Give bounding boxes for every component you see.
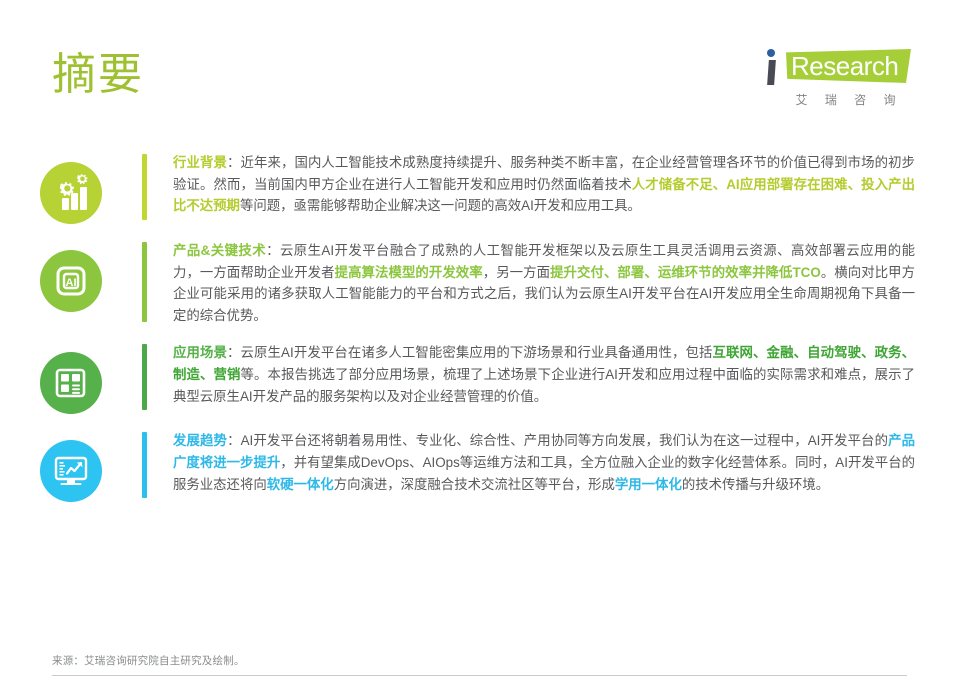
block-icon-wrap	[0, 428, 142, 502]
block-icon-wrap	[0, 340, 142, 414]
block-body-text-4: 的技术传播与升级环境。	[682, 477, 829, 492]
gears-bar-chart-icon	[40, 162, 102, 224]
block-lead-label: 发展趋势	[173, 433, 227, 448]
block-text-product-key-tech: 产品&关键技术：云原生AI开发平台融合了成熟的人工智能开发框架以及云原生工具灵活…	[147, 238, 959, 326]
page-footer: 来源：艾瑞咨询研究院自主研究及绘制。	[52, 653, 907, 676]
footer-source-text: 来源：艾瑞咨询研究院自主研究及绘制。	[52, 653, 907, 675]
summary-block-application-scenarios: 应用场景：云原生AI开发平台在诸多人工智能密集应用的下游场景和行业具备通用性，包…	[0, 340, 959, 414]
page-header: 摘要 Research 艾 瑞 咨 询	[0, 0, 959, 132]
ai-chip-icon: AI	[40, 250, 102, 312]
block-body-text-2: 等问题，亟需能够帮助企业解决这一问题的高效AI开发和应用工具。	[240, 198, 641, 213]
block-highlight-text-2: 软硬一体化	[267, 477, 334, 492]
logo-subtitle: 艾 瑞 咨 询	[787, 91, 911, 108]
block-icon-wrap: AI	[0, 238, 142, 312]
logo-wordmark: Research	[791, 52, 898, 80]
page-title: 摘要	[52, 48, 144, 102]
svg-text:AI: AI	[66, 277, 77, 289]
block-body-text-2: 等。本报告挑选了部分应用场景，梳理了上述场景下企业进行AI开发和应用过程中面临的…	[173, 367, 915, 404]
block-body-text: ：AI开发平台还将朝着易用性、专业化、综合性、产用协同等方向发展，我们认为在这一…	[227, 433, 888, 448]
footer-divider	[52, 675, 907, 676]
layout-grid-document-icon	[40, 352, 102, 414]
summary-blocks: 行业背景：近年来，国内人工智能技术成熟度持续提升、服务种类不断丰富，在企业经营管…	[0, 150, 959, 516]
logo-mark: Research	[759, 48, 911, 88]
iresearch-logo: Research 艾 瑞 咨 询	[759, 48, 911, 110]
block-lead-label: 行业背景	[173, 155, 227, 170]
block-highlight-text: 提高算法模型的开发效率	[335, 265, 483, 280]
summary-block-industry-background: 行业背景：近年来，国内人工智能技术成熟度持续提升、服务种类不断丰富，在企业经营管…	[0, 150, 959, 224]
summary-block-development-trends: 发展趋势：AI开发平台还将朝着易用性、专业化、综合性、产用协同等方向发展，我们认…	[0, 428, 959, 502]
monitor-trend-chart-icon	[40, 440, 102, 502]
block-highlight-text-2: 提升交付、部署、运维环节的效率并降低TCO	[550, 265, 821, 280]
block-lead-label: 产品&关键技术	[173, 243, 266, 258]
block-text-application-scenarios: 应用场景：云原生AI开发平台在诸多人工智能密集应用的下游场景和行业具备通用性，包…	[147, 340, 959, 407]
block-text-development-trends: 发展趋势：AI开发平台还将朝着易用性、专业化、综合性、产用协同等方向发展，我们认…	[147, 428, 959, 495]
logo-i-dot-icon	[767, 49, 775, 57]
block-body-text-3: 方向演进，深度融合技术交流社区等平台，形成	[334, 477, 615, 492]
logo-i-stem-icon	[767, 60, 776, 85]
block-lead-label: 应用场景	[173, 345, 227, 360]
block-highlight-text-3: 学用一体化	[615, 477, 682, 492]
block-text-industry-background: 行业背景：近年来，国内人工智能技术成熟度持续提升、服务种类不断丰富，在企业经营管…	[147, 150, 959, 217]
summary-block-product-key-tech: AI 产品&关键技术：云原生AI开发平台融合了成熟的人工智能开发框架以及云原生工…	[0, 238, 959, 326]
block-icon-wrap	[0, 150, 142, 224]
block-body-text-2: ，另一方面	[483, 265, 550, 280]
block-body-text: ：云原生AI开发平台在诸多人工智能密集应用的下游场景和行业具备通用性，包括	[227, 345, 713, 360]
